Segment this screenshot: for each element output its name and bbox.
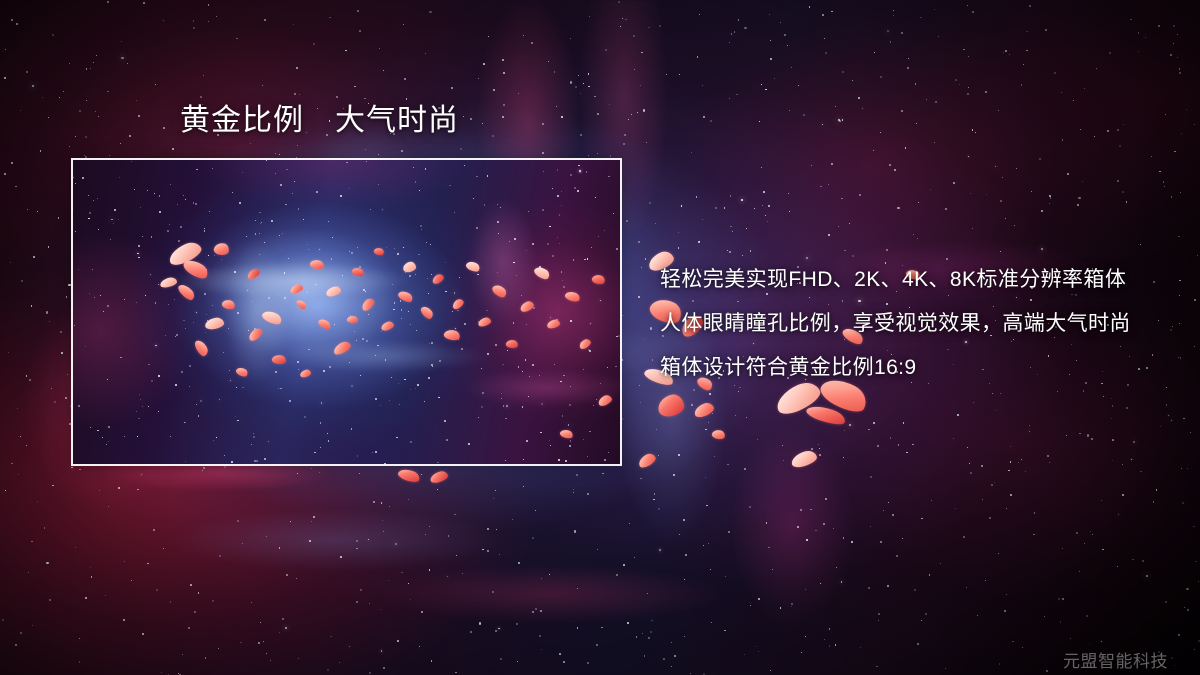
body-copy: 轻松完美实现FHD、2K、4K、8K标准分辨率箱体 人体眼睛瞳孔比例，享受视觉效… (660, 258, 1180, 390)
body-copy-line-3: 箱体设计符合黄金比例16:9 (660, 346, 1180, 390)
petal (711, 429, 726, 441)
petal (805, 402, 847, 428)
body-copy-line-1: 轻松完美实现FHD、2K、4K、8K标准分辨率箱体 (660, 258, 1180, 302)
petal (693, 401, 716, 419)
petal (656, 393, 685, 418)
page-title: 黄金比例 大气时尚 (180, 103, 459, 139)
petal (429, 470, 449, 485)
petal (790, 449, 819, 470)
framed-image (71, 158, 622, 466)
watermark: 元盟智能科技 (1063, 647, 1168, 672)
body-copy-line-2: 人体眼睛瞳孔比例，享受视觉效果，高端大气时尚 (660, 302, 1180, 346)
framed-wisps (73, 160, 620, 464)
slide-canvas: 黄金比例 大气时尚 轻松完美实现FHD、2K、4K、8K标准分辨率箱体 人体眼睛… (0, 0, 1200, 675)
petal (397, 467, 421, 485)
petal (636, 451, 657, 469)
framed-image-content (73, 160, 620, 464)
